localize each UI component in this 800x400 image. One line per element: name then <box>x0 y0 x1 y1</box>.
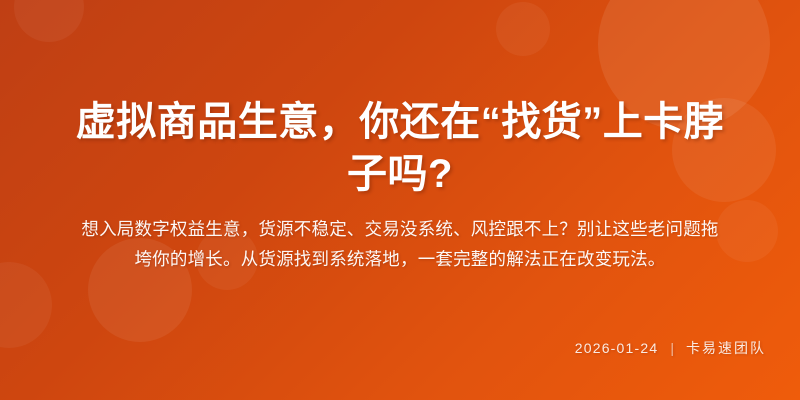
promo-banner: 虚拟商品生意，你还在“找货”上卡脖 子吗? 想入局数字权益生意，货源不稳定、交易… <box>0 0 800 400</box>
publish-date: 2026-01-24 <box>575 340 659 356</box>
banner-content: 虚拟商品生意，你还在“找货”上卡脖 子吗? 想入局数字权益生意，货源不稳定、交易… <box>0 0 800 400</box>
banner-subtitle: 想入局数字权益生意，货源不稳定、交易没系统、风控跟不上？别让这些老问题拖 垮你的… <box>34 214 766 274</box>
team-name: 卡易速团队 <box>686 338 766 358</box>
footer-separator: | <box>670 340 674 356</box>
banner-subtitle-line-1: 想入局数字权益生意，货源不稳定、交易没系统、风控跟不上？别让这些老问题拖 <box>81 219 718 239</box>
banner-footer: 2026-01-24 | 卡易速团队 <box>575 338 766 358</box>
banner-title-line-1: 虚拟商品生意，你还在“找货”上卡脖 <box>76 100 725 144</box>
banner-title-line-2: 子吗? <box>347 152 453 196</box>
banner-title: 虚拟商品生意，你还在“找货”上卡脖 子吗? <box>28 96 772 200</box>
banner-subtitle-line-2: 垮你的增长。从货源找到系统落地，一套完整的解法正在改变玩法。 <box>135 249 666 269</box>
